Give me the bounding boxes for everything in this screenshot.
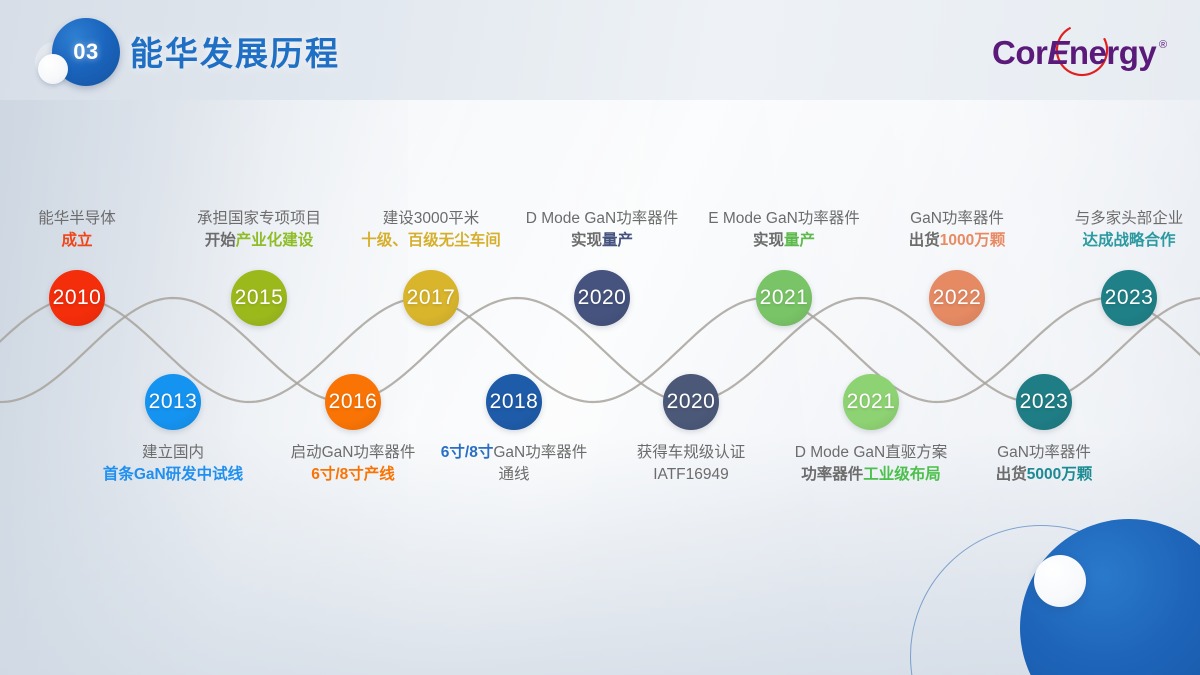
timeline-node-2023-top[interactable]: 2023 [1101, 270, 1157, 326]
timeline-node-2017-top[interactable]: 2017 [403, 270, 459, 326]
timeline-node-year: 2015 [235, 286, 284, 310]
timeline-node-year: 2016 [329, 390, 378, 414]
timeline-label-line2: 达成战略合作 [999, 230, 1200, 252]
badge-number: 03 [73, 39, 98, 65]
timeline-label-2023-top: 与多家头部企业达成战略合作 [999, 208, 1200, 253]
timeline-node-year: 2017 [407, 286, 456, 310]
timeline-node-year: 2018 [490, 390, 539, 414]
timeline-node-2022-top[interactable]: 2022 [929, 270, 985, 326]
timeline-label-line1: GaN功率器件 [914, 442, 1174, 464]
timeline-label-highlight: 量产 [784, 232, 815, 249]
timeline-node-2010-top[interactable]: 2010 [49, 270, 105, 326]
timeline-node-year: 2010 [53, 286, 102, 310]
logo-svg: CorEnergy ® [978, 22, 1178, 84]
timeline-node-year: 2020 [578, 286, 627, 310]
logo-registered-mark: ® [1159, 39, 1167, 51]
timeline-label-2023-bottom: GaN功率器件出货5000万颗 [914, 442, 1174, 487]
timeline-label-line2: 出货5000万颗 [914, 464, 1174, 486]
corenergy-logo: CorEnergy ® [978, 22, 1178, 84]
timeline-node-year: 2013 [149, 390, 198, 414]
timeline-label-line1: 与多家头部企业 [999, 208, 1200, 230]
timeline-node-2023-bottom[interactable]: 2023 [1016, 374, 1072, 430]
badge-white-dot-icon [38, 54, 68, 84]
timeline-label-highlight: 5000万颗 [1027, 466, 1092, 483]
timeline-node-year: 2021 [847, 390, 896, 414]
timeline-node-year: 2023 [1105, 286, 1154, 310]
timeline-label-plain: 开始 [205, 232, 236, 249]
timeline-node-year: 2022 [933, 286, 982, 310]
timeline-label-plain: 实现 [753, 232, 784, 249]
page-title: 能华发展历程 [130, 27, 340, 75]
timeline-label-plain: IATF16949 [653, 466, 729, 483]
timeline-label-highlight: 成立 [61, 232, 92, 249]
logo-wordmark: CorEnergy [992, 34, 1157, 71]
timeline-node-2015-top[interactable]: 2015 [231, 270, 287, 326]
timeline-label-highlight: 达成战略合作 [1082, 232, 1175, 249]
timeline-label-plain: 出货 [996, 466, 1027, 483]
timeline-label-highlight: 6寸/8寸 [441, 444, 494, 461]
timeline-label-plain: 功率器件 [801, 466, 863, 483]
timeline-node-2018-bottom[interactable]: 2018 [486, 374, 542, 430]
timeline-node-2021-bottom[interactable]: 2021 [843, 374, 899, 430]
timeline-node-2016-bottom[interactable]: 2016 [325, 374, 381, 430]
timeline-label-highlight: 1000万颗 [940, 232, 1005, 249]
timeline-node-2020-bottom[interactable]: 2020 [663, 374, 719, 430]
section-badge: 03 [26, 18, 130, 90]
timeline-label-highlight: 6寸/8寸产线 [311, 466, 395, 483]
timeline-label-highlight: 量产 [602, 232, 633, 249]
timeline: 2010能华半导体成立2013建立国内首条GaN研发中试线2015承担国家专项项… [0, 0, 1200, 675]
timeline-node-year: 2021 [760, 286, 809, 310]
timeline-label-plain: 实现 [571, 232, 602, 249]
timeline-node-2013-bottom[interactable]: 2013 [145, 374, 201, 430]
timeline-node-year: 2020 [667, 390, 716, 414]
timeline-node-year: 2023 [1020, 390, 1069, 414]
timeline-node-2021-top[interactable]: 2021 [756, 270, 812, 326]
timeline-label-plain: 出货 [909, 232, 940, 249]
timeline-node-2020-top[interactable]: 2020 [574, 270, 630, 326]
timeline-label-plain: 通线 [498, 466, 529, 483]
